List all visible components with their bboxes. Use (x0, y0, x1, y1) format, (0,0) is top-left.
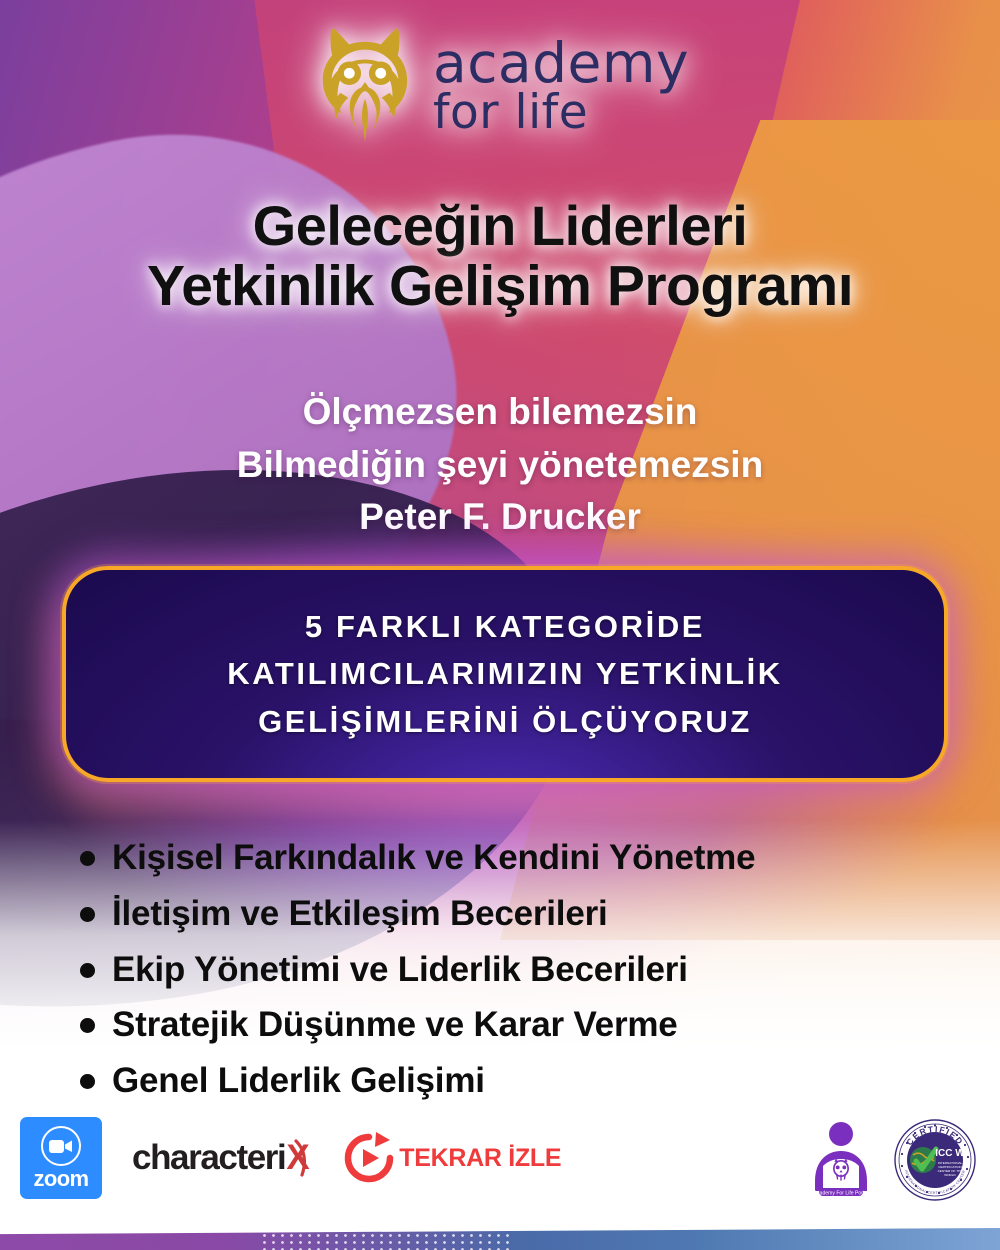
tekrar-izle-logo: TEKRAR İZLE (341, 1130, 561, 1186)
highlight-text: 5 FARKLI KATEGORİDE KATILIMCILARIMIZIN Y… (227, 603, 783, 744)
poster-content: academy for life Geleceğin Liderleri Yet… (0, 0, 1000, 1250)
icc-seal-main-text: ICC W (935, 1148, 965, 1159)
highlight-box: 5 FARKLI KATEGORİDE KATILIMCILARIMIZIN Y… (62, 566, 948, 782)
quote-line-2: Bilmediğin şeyi yönetemezsin (0, 439, 1000, 492)
strip-dot-pattern (260, 1232, 510, 1250)
portal-badge-label: Academy For Life Portal (814, 1190, 869, 1196)
category-label: Genel Liderlik Gelişimi (112, 1059, 485, 1104)
icc-certified-seal-icon: ICC W INTERNATIONAL CERTIFICATION CENTER… (894, 1119, 976, 1201)
list-item: Stratejik Düşünme ve Karar Verme (80, 1003, 960, 1048)
bullet-dot-icon (80, 851, 95, 866)
brand-wordmark: academy for life (433, 37, 689, 136)
category-list: Kişisel Farkındalık ve Kendini Yönetme İ… (80, 836, 960, 1115)
category-label: Ekip Yönetimi ve Liderlik Becerileri (112, 948, 688, 993)
highlight-line-2: KATILIMCILARIMIZIN YETKİNLİK (227, 650, 783, 697)
title-line-1: Geleceğin Liderleri (0, 196, 1000, 256)
video-camera-glyph (49, 1139, 73, 1154)
quote-block: Ölçmezsen bilemezsin Bilmediğin şeyi yön… (0, 386, 1000, 544)
list-item: Kişisel Farkındalık ve Kendini Yönetme (80, 836, 960, 881)
replay-play-icon (341, 1130, 397, 1186)
characterix-text: characteri (132, 1138, 285, 1178)
owl-icon (311, 26, 419, 146)
characterix-logo: characteri X (132, 1137, 311, 1179)
brand-logo: academy for life (0, 26, 1000, 146)
title-line-2: Yetkinlik Gelişim Programı (0, 256, 1000, 318)
highlight-line-1: 5 FARKLI KATEGORİDE (227, 603, 783, 650)
list-item: İletişim ve Etkileşim Becerileri (80, 892, 960, 937)
list-item: Ekip Yönetimi ve Liderlik Becerileri (80, 948, 960, 993)
category-label: Kişisel Farkındalık ve Kendini Yönetme (112, 836, 755, 881)
brand-name-line-2: for life (433, 91, 689, 136)
brand-name-line-1: academy (433, 37, 689, 89)
tekrar-izle-label: TEKRAR İZLE (399, 1144, 561, 1173)
footer-badges: Academy For Life Portal (810, 1119, 976, 1201)
page-title: Geleceğin Liderleri Yetkinlik Gelişim Pr… (0, 196, 1000, 318)
zoom-logo: zoom (20, 1117, 102, 1199)
bullet-dot-icon (80, 907, 95, 922)
category-label: Stratejik Düşünme ve Karar Verme (112, 1003, 678, 1048)
bullet-dot-icon (80, 1074, 95, 1089)
promo-poster: academy for life Geleceğin Liderleri Yet… (0, 0, 1000, 1250)
bullet-dot-icon (80, 1018, 95, 1033)
highlight-line-3: GELİŞİMLERİNİ ÖLÇÜYORUZ (227, 698, 783, 745)
highlight-callout: 5 FARKLI KATEGORİDE KATILIMCILARIMIZIN Y… (62, 566, 948, 782)
svg-text:WORLD: WORLD (944, 1173, 956, 1177)
bullet-dot-icon (80, 963, 95, 978)
footer-partner-logos: zoom characteri X (20, 1117, 561, 1199)
characterix-accent-letter: X (286, 1138, 308, 1178)
list-item: Genel Liderlik Gelişimi (80, 1059, 960, 1104)
video-camera-icon (41, 1126, 81, 1166)
footer-logos: zoom characteri X (0, 1117, 1000, 1227)
zoom-label: zoom (33, 1168, 88, 1190)
person-reading-owl-icon: Academy For Life Portal (810, 1119, 872, 1201)
quote-line-1: Ölçmezsen bilemezsin (0, 386, 1000, 439)
category-label: İletişim ve Etkileşim Becerileri (112, 892, 608, 937)
